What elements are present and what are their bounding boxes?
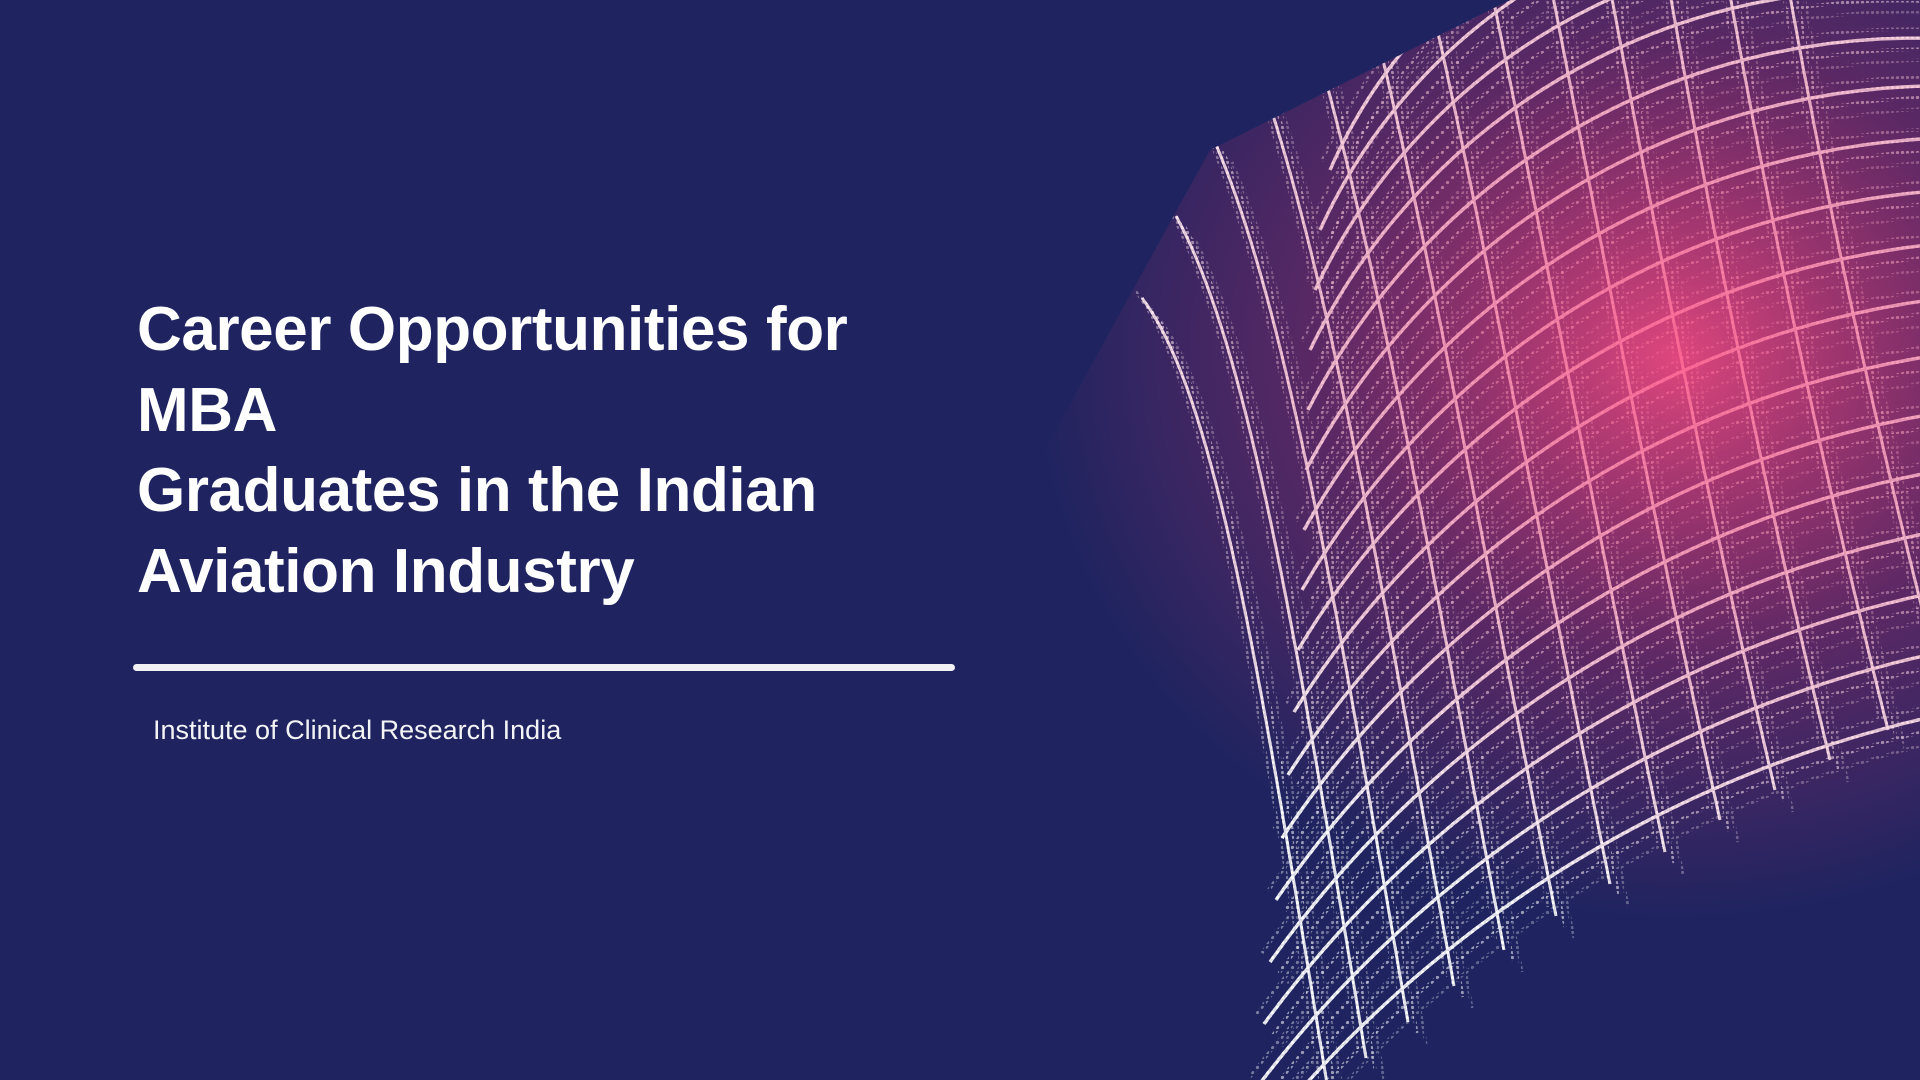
slide-subtitle: Institute of Clinical Research India xyxy=(153,713,997,748)
slide-text-block: Career Opportunities for MBA Graduates i… xyxy=(137,290,997,748)
title-divider xyxy=(133,664,955,671)
page-title: Career Opportunities for MBA Graduates i… xyxy=(137,290,997,612)
presentation-slide: Career Opportunities for MBA Graduates i… xyxy=(0,0,1920,1080)
